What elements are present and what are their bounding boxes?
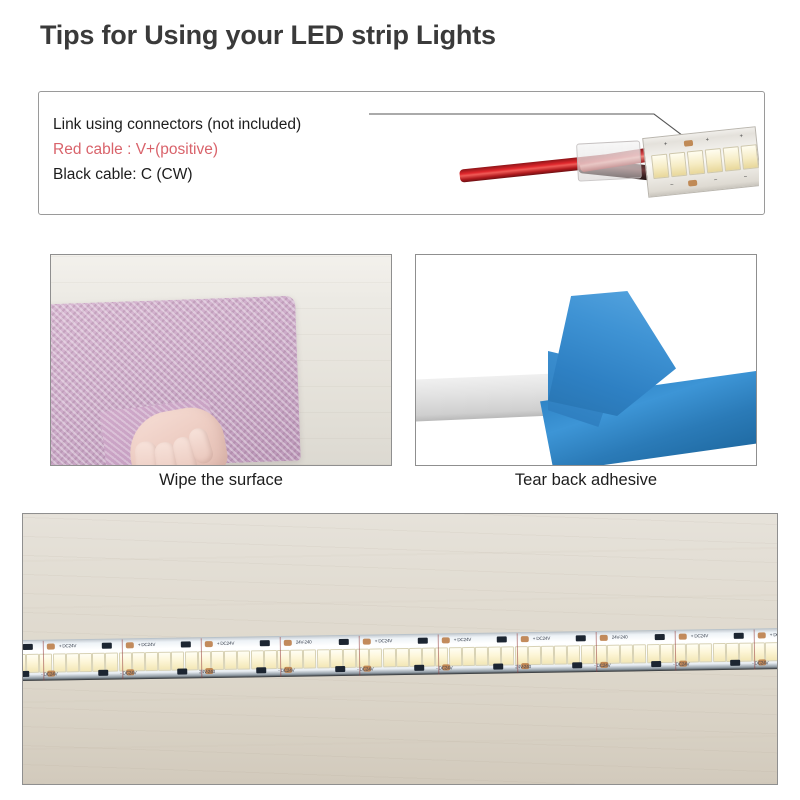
led-chip bbox=[396, 648, 409, 667]
strip-end-board: + + + − − − bbox=[642, 126, 759, 198]
info-line-red-cable: Red cable : V+(positive) bbox=[53, 137, 383, 162]
resistor bbox=[730, 660, 740, 666]
led-chip bbox=[699, 643, 712, 662]
resistor bbox=[177, 668, 187, 674]
solder-pad bbox=[758, 632, 766, 638]
led-chip bbox=[303, 649, 316, 668]
strip-marking-positive: + DC24V bbox=[770, 632, 778, 637]
led-chip bbox=[633, 644, 646, 663]
resistor bbox=[493, 663, 503, 669]
resistor bbox=[339, 639, 349, 645]
led-chip bbox=[528, 646, 541, 665]
led-chip bbox=[686, 643, 699, 662]
solder-pad bbox=[47, 644, 55, 650]
led-chip bbox=[53, 653, 66, 672]
resistor bbox=[181, 641, 191, 647]
led-chip bbox=[607, 645, 620, 664]
resistor bbox=[256, 667, 266, 673]
connector-info-text-block: Link using connectors (not included) Red… bbox=[53, 112, 383, 187]
cable-sheath bbox=[576, 140, 642, 181]
solder-pad bbox=[126, 642, 134, 648]
resistor bbox=[335, 666, 345, 672]
led-chip bbox=[462, 647, 475, 666]
led-chip bbox=[712, 643, 725, 662]
led-chip bbox=[739, 643, 752, 662]
strip-marking-positive: + DC24V bbox=[454, 637, 471, 642]
solder-pad bbox=[600, 635, 608, 641]
resistor bbox=[22, 671, 29, 677]
led-strip-full-photo: + DC24V- DC24V+ DC24V- DC24V+ DC24V24V-2… bbox=[22, 513, 778, 785]
resistor bbox=[734, 633, 744, 639]
led-chip bbox=[620, 644, 633, 663]
strip-marking-positive: + DC24V bbox=[533, 636, 550, 641]
resistor bbox=[655, 634, 665, 640]
info-line-link-connectors: Link using connectors (not included) bbox=[53, 112, 383, 137]
led-chip bbox=[158, 652, 171, 671]
led-chip bbox=[554, 645, 567, 664]
led-chip bbox=[541, 646, 554, 665]
strip-marking-positive: + DC24V bbox=[691, 633, 708, 638]
led-chip bbox=[237, 650, 250, 669]
led-chip bbox=[448, 647, 461, 666]
connector-info-box: Link using connectors (not included) Red… bbox=[38, 91, 765, 215]
led-strip-connector-photo: + + + − − − bbox=[459, 110, 759, 210]
solder-pad bbox=[363, 639, 371, 645]
resistor bbox=[576, 635, 586, 641]
led-chip bbox=[290, 650, 303, 669]
led-chip bbox=[765, 642, 778, 661]
led-chip bbox=[145, 652, 158, 671]
resistor bbox=[418, 638, 428, 644]
led-chip bbox=[317, 649, 330, 668]
solder-pad bbox=[679, 634, 687, 640]
solder-pad bbox=[442, 637, 450, 643]
led-chip bbox=[79, 653, 92, 672]
info-line-black-cable: Black cable: C (CW) bbox=[53, 162, 383, 187]
led-chip bbox=[224, 651, 237, 670]
resistor bbox=[260, 640, 270, 646]
wipe-surface-photo bbox=[50, 254, 392, 466]
resistor bbox=[414, 665, 424, 671]
led-chip bbox=[343, 649, 356, 668]
led-chip bbox=[211, 651, 224, 670]
resistor bbox=[102, 643, 112, 649]
tear-back-adhesive-photo bbox=[415, 254, 757, 466]
led-chip bbox=[475, 647, 488, 666]
strip-marking-positive: 24V-240 bbox=[612, 635, 628, 640]
strip-marking-positive: + DC24V bbox=[375, 638, 392, 643]
resistor bbox=[651, 661, 661, 667]
strip-marking-positive: + DC24V bbox=[138, 642, 155, 647]
resistor bbox=[497, 636, 507, 642]
led-chip bbox=[580, 645, 593, 664]
led-chip bbox=[501, 646, 514, 665]
resistor bbox=[23, 644, 33, 650]
strip-marking-positive: + DC24V bbox=[217, 641, 234, 646]
caption-wipe-the-surface: Wipe the surface bbox=[50, 471, 392, 490]
led-chip bbox=[132, 652, 145, 671]
led-chip bbox=[66, 653, 79, 672]
caption-tear-back-adhesive: Tear back adhesive bbox=[415, 471, 757, 490]
led-chip bbox=[382, 648, 395, 667]
resistor bbox=[98, 670, 108, 676]
strip-marking-positive: + DC24V bbox=[59, 643, 76, 648]
led-chip bbox=[369, 648, 382, 667]
solder-pad bbox=[284, 640, 292, 646]
led-chip bbox=[422, 648, 435, 667]
resistor bbox=[572, 662, 582, 668]
solder-pad bbox=[205, 641, 213, 647]
solder-pad bbox=[521, 636, 529, 642]
page-title: Tips for Using your LED strip Lights bbox=[40, 20, 496, 51]
strip-marking-positive: 24V-240 bbox=[296, 639, 312, 644]
led-chip bbox=[660, 644, 673, 663]
